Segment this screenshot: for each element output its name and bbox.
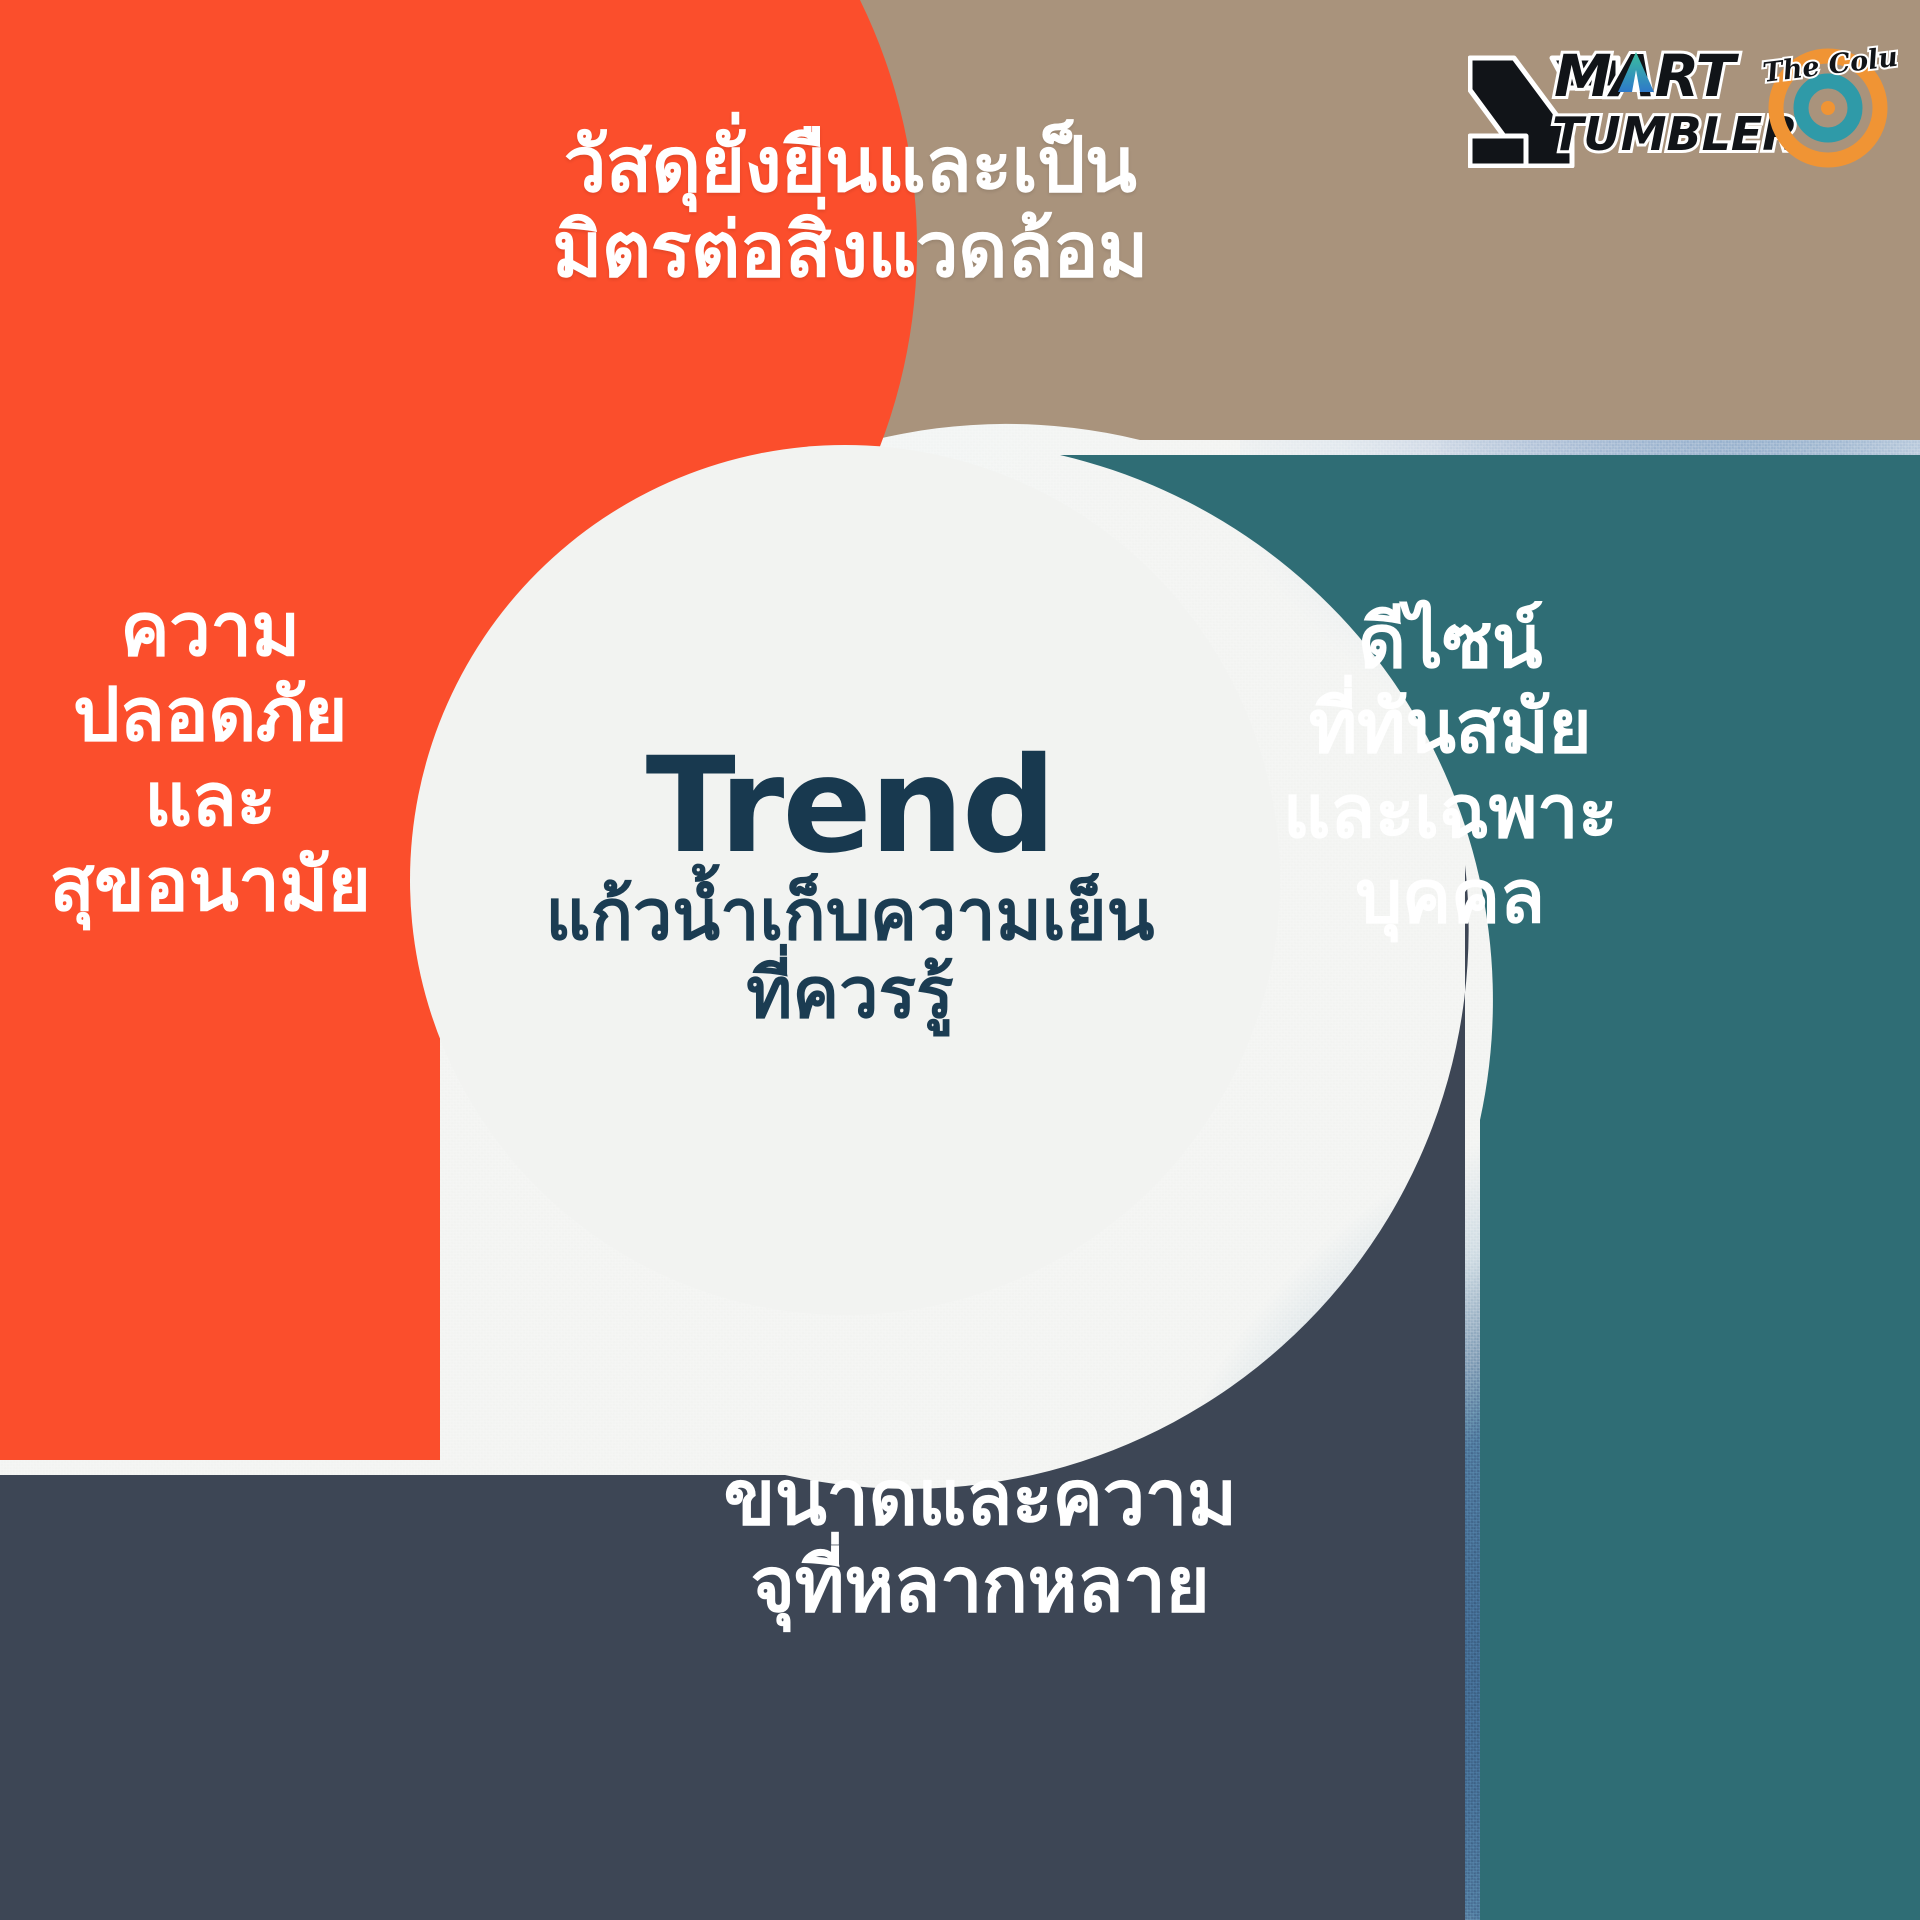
quadrant-label-modern-design: ดีไซน์ ที่ทันสมัย และเฉพาะ บุคคล xyxy=(1230,600,1670,940)
center-subtitle: แก้วน้ำเก็บความเย็น ที่ควรรู้ xyxy=(520,876,1180,1033)
brand-logo[interactable]: MART TUMBLER The Column xyxy=(1468,18,1898,168)
quadrant-label-safety-and-hygiene: ความ ปลอดภัย และ สุขอนามัย xyxy=(0,588,420,928)
center-title: Trend xyxy=(520,740,1180,872)
logo-wordmark-secondary: TUMBLER xyxy=(1552,107,1798,161)
center-text-block: Trend แก้วน้ำเก็บความเย็น ที่ควรรู้ xyxy=(520,740,1180,1033)
quadrant-label-sustainable-materials: วัสดุยั่งยืนและเป็น มิตรต่อสิ่งแวดล้อม xyxy=(490,122,1210,292)
infographic-canvas: วัสดุยั่งยืนและเป็น มิตรต่อสิ่งแวดล้อม ด… xyxy=(0,0,1920,1920)
quadrant-label-sizes-and-capacity: ขนาดและความ จุที่หลากหลาย xyxy=(600,1455,1360,1628)
logo-wordmark-primary: MART xyxy=(1554,42,1740,110)
